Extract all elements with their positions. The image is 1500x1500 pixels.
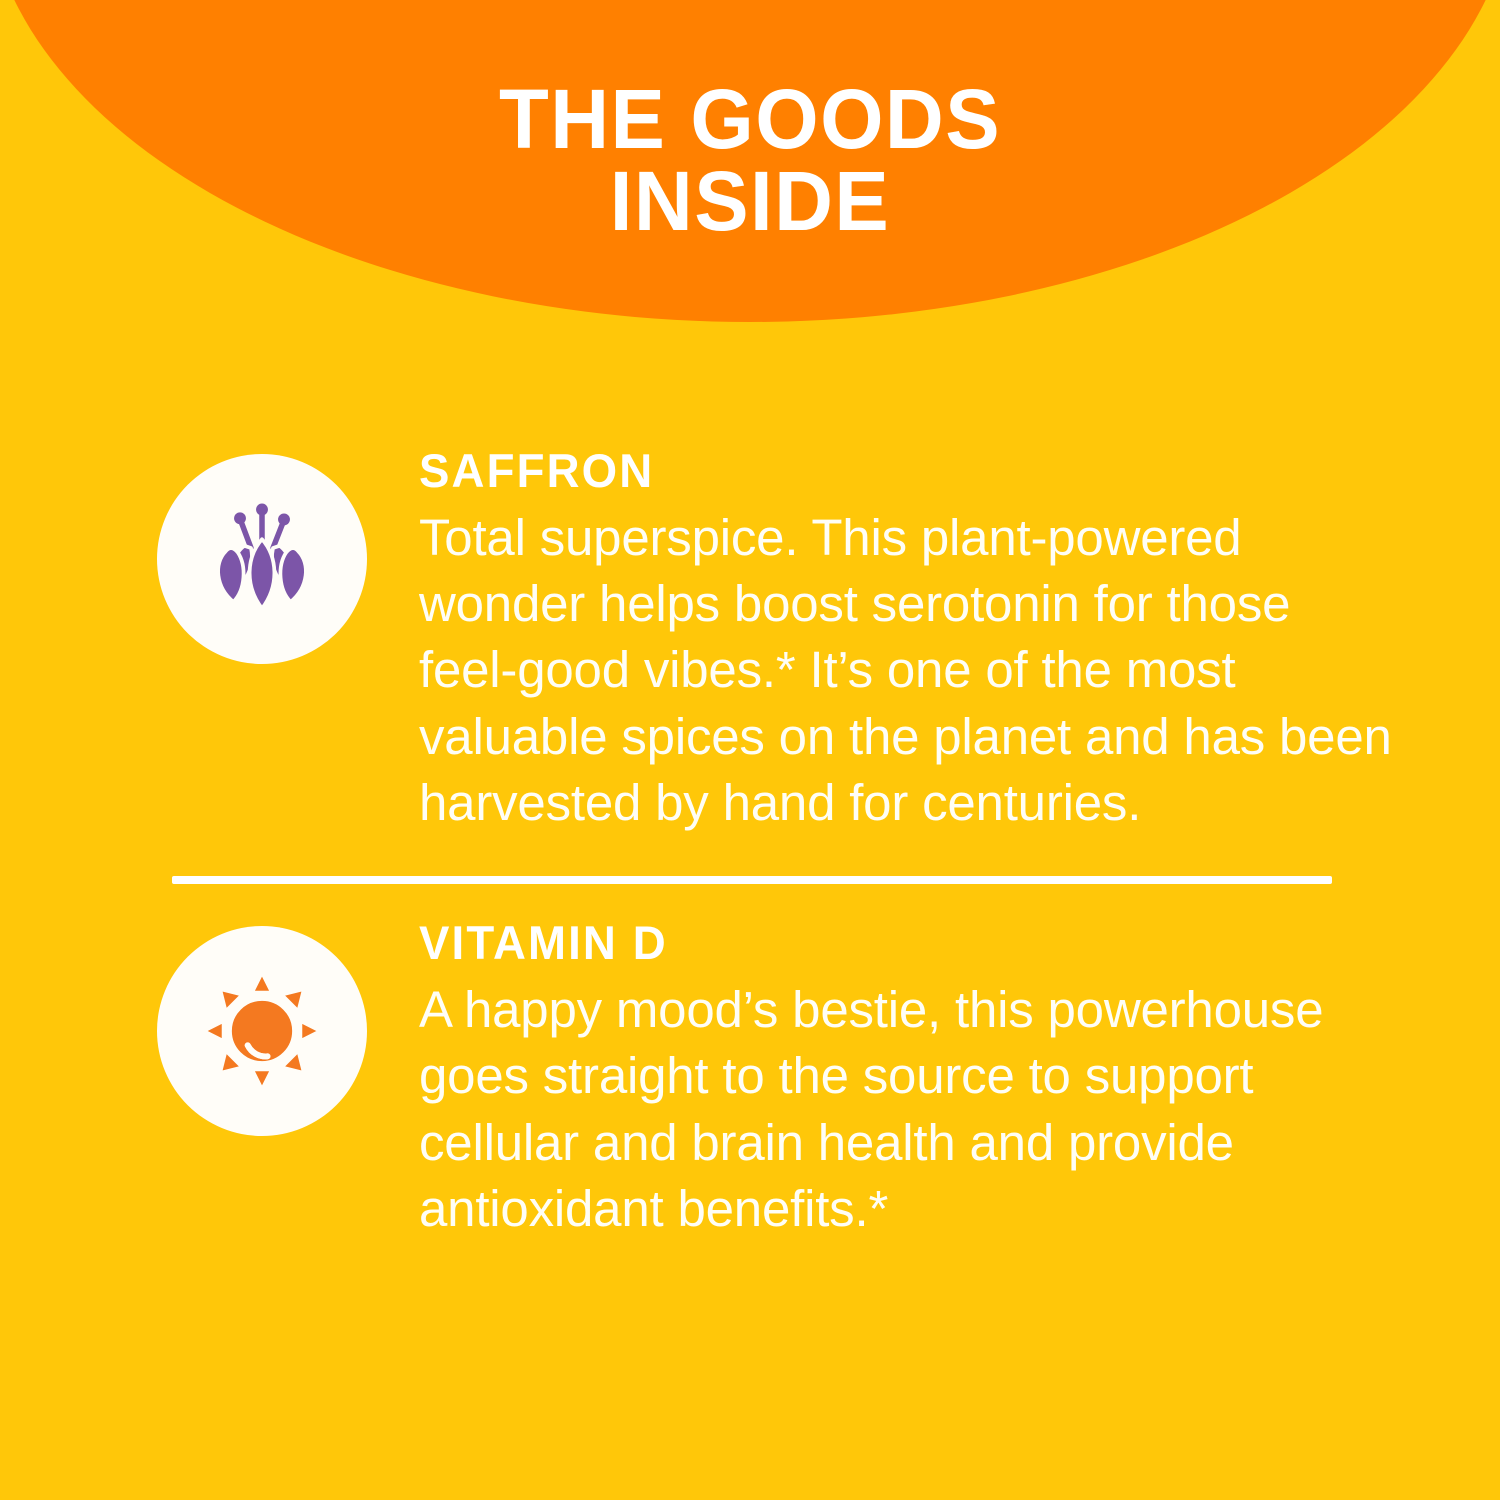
saffron-flower-icon bbox=[196, 493, 328, 625]
ingredient-item-saffron: SAFFRON Total superspice. This plant-pow… bbox=[0, 340, 1500, 836]
vitamin-d-icon-badge bbox=[157, 926, 367, 1136]
ingredient-item-vitamin-d: VITAMIN D A happy mood’s bestie, this po… bbox=[0, 924, 1500, 1242]
saffron-text-block: SAFFRON Total superspice. This plant-pow… bbox=[419, 442, 1394, 836]
header-title-line-2: INSIDE bbox=[23, 160, 1478, 242]
section-divider bbox=[172, 876, 1332, 884]
header-banner: THE GOODS INSIDE bbox=[0, 0, 1500, 340]
sun-icon bbox=[196, 965, 328, 1097]
ingredient-list: SAFFRON Total superspice. This plant-pow… bbox=[0, 340, 1500, 1242]
vitamin-d-text-block: VITAMIN D A happy mood’s bestie, this po… bbox=[419, 914, 1394, 1242]
page-title: THE GOODS INSIDE bbox=[0, 0, 1500, 243]
ingredient-title: VITAMIN D bbox=[419, 914, 1365, 973]
ingredient-description: A happy mood’s bestie, this powerhouse g… bbox=[419, 977, 1394, 1242]
ingredient-description: Total superspice. This plant-powered won… bbox=[419, 505, 1394, 836]
saffron-icon-badge bbox=[157, 454, 367, 664]
header-title-line-1: THE GOODS bbox=[23, 78, 1478, 160]
ingredient-title: SAFFRON bbox=[419, 442, 1365, 501]
